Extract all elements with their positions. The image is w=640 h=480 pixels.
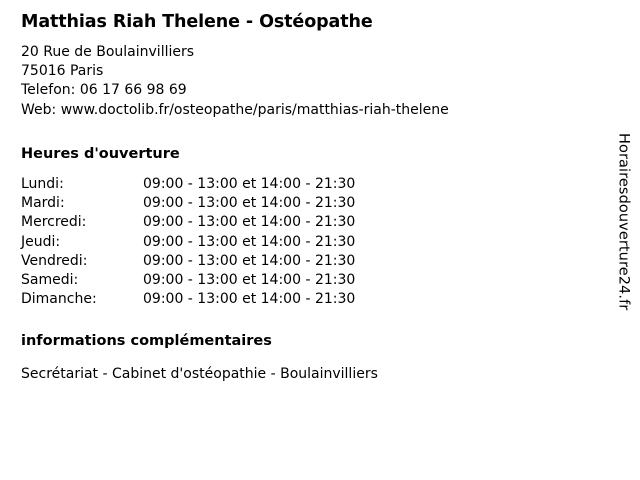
table-row: Mercredi: 09:00 - 13:00 et 14:00 - 21:30	[21, 213, 355, 232]
additional-information-text: Secrétariat - Cabinet d'ostéopathie - Bo…	[21, 365, 378, 384]
table-row: Vendredi: 09:00 - 13:00 et 14:00 - 21:30	[21, 252, 355, 271]
hours-day-label: Dimanche:	[21, 290, 139, 309]
hours-day-label: Mardi:	[21, 194, 139, 213]
source-watermark: Horairesdouverture24.fr	[612, 133, 634, 348]
table-row: Mardi: 09:00 - 13:00 et 14:00 - 21:30	[21, 194, 355, 213]
address-block: 20 Rue de Boulainvilliers 75016 Paris Te…	[21, 43, 449, 120]
opening-hours-body: Lundi: 09:00 - 13:00 et 14:00 - 21:30 Ma…	[21, 175, 355, 309]
hours-time-value: 09:00 - 13:00 et 14:00 - 21:30	[139, 233, 355, 252]
opening-hours-table: Lundi: 09:00 - 13:00 et 14:00 - 21:30 Ma…	[21, 175, 355, 309]
address-phone: Telefon: 06 17 66 98 69	[21, 81, 449, 100]
hours-time-value: 09:00 - 13:00 et 14:00 - 21:30	[139, 213, 355, 232]
hours-day-label: Vendredi:	[21, 252, 139, 271]
address-website: Web: www.doctolib.fr/osteopathe/paris/ma…	[21, 101, 449, 120]
hours-time-value: 09:00 - 13:00 et 14:00 - 21:30	[139, 175, 355, 194]
table-row: Lundi: 09:00 - 13:00 et 14:00 - 21:30	[21, 175, 355, 194]
table-row: Jeudi: 09:00 - 13:00 et 14:00 - 21:30	[21, 233, 355, 252]
hours-day-label: Mercredi:	[21, 213, 139, 232]
hours-day-label: Jeudi:	[21, 233, 139, 252]
hours-time-value: 09:00 - 13:00 et 14:00 - 21:30	[139, 194, 355, 213]
address-city: 75016 Paris	[21, 62, 449, 81]
table-row: Dimanche: 09:00 - 13:00 et 14:00 - 21:30	[21, 290, 355, 309]
source-watermark-label: Horairesdouverture24.fr	[616, 133, 631, 310]
page-title: Matthias Riah Thelene - Ostéopathe	[21, 11, 373, 33]
table-row: Samedi: 09:00 - 13:00 et 14:00 - 21:30	[21, 271, 355, 290]
additional-information-heading: informations complémentaires	[21, 332, 272, 351]
address-street: 20 Rue de Boulainvilliers	[21, 43, 449, 62]
hours-day-label: Samedi:	[21, 271, 139, 290]
hours-time-value: 09:00 - 13:00 et 14:00 - 21:30	[139, 271, 355, 290]
opening-hours-heading: Heures d'ouverture	[21, 145, 180, 164]
hours-time-value: 09:00 - 13:00 et 14:00 - 21:30	[139, 252, 355, 271]
hours-day-label: Lundi:	[21, 175, 139, 194]
business-info-card: Matthias Riah Thelene - Ostéopathe 20 Ru…	[0, 0, 640, 480]
hours-time-value: 09:00 - 13:00 et 14:00 - 21:30	[139, 290, 355, 309]
